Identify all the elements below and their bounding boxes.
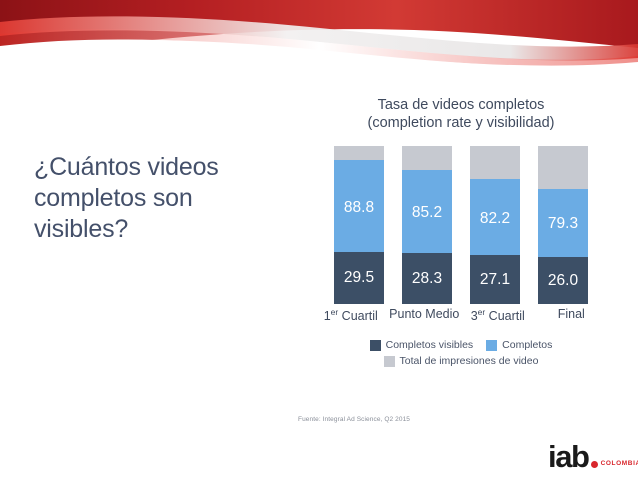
legend-swatch-icon	[486, 340, 497, 351]
legend-swatch-icon	[384, 356, 395, 367]
bar-value-completos: 88.8	[342, 199, 376, 216]
legend-row: Completos visibles Completos	[296, 339, 626, 351]
stacked-bar[interactable]: 79.3 26.0	[538, 146, 588, 304]
legend-item-total-impresiones[interactable]: Total de impresiones de video	[384, 355, 539, 367]
bar-value-completos: 82.2	[478, 210, 512, 227]
legend-item-completos[interactable]: Completos	[486, 339, 552, 351]
bar-value-visibles: 26.0	[546, 272, 580, 289]
bar-segment-visibles: 26.0	[538, 257, 588, 304]
category-number: 1	[324, 309, 331, 323]
legend-item-completos-visibles[interactable]: Completos visibles	[370, 339, 474, 351]
legend-label: Completos	[502, 339, 552, 351]
logo-country-label: COLOMBIA	[601, 460, 638, 467]
bar-segment-completos: 85.2	[402, 170, 452, 254]
bar-segment-completos: 88.8	[334, 160, 384, 252]
chart-plot-area: 88.8 29.5 85.2 28.3 82.2	[296, 146, 626, 304]
legend-label: Completos visibles	[386, 339, 474, 351]
source-note: Fuente: Integral Ad Science, Q2 2015	[298, 416, 410, 423]
category-label: Punto Medio	[388, 307, 462, 323]
category-label: Final	[535, 307, 609, 323]
category-text: Final	[558, 307, 585, 321]
bar-segment-visibles: 27.1	[470, 255, 520, 304]
iab-colombia-logo: iab COLOMBIA	[548, 441, 638, 472]
bar-segment-completos: 82.2	[470, 179, 520, 255]
header-wave-banner	[0, 0, 638, 72]
chart-legend: Completos visibles Completos Total de im…	[296, 339, 626, 367]
logo-wordmark: iab	[548, 441, 589, 472]
bar-value-visibles: 28.3	[410, 270, 444, 287]
legend-row: Total de impresiones de video	[296, 355, 626, 367]
category-label: 3er Cuartil	[461, 307, 535, 323]
bar-group: 88.8 29.5 85.2 28.3 82.2	[296, 146, 626, 304]
stacked-bar[interactable]: 82.2 27.1	[470, 146, 520, 304]
bar-segment-total	[402, 146, 452, 170]
bar-segment-visibles: 29.5	[334, 252, 384, 304]
legend-swatch-icon	[370, 340, 381, 351]
bar-value-completos: 85.2	[410, 204, 444, 221]
category-text: Cuartil	[485, 309, 525, 323]
chart-title: Tasa de videos completos (completion rat…	[296, 96, 626, 132]
bar-value-visibles: 27.1	[478, 271, 512, 288]
category-label: 1er Cuartil	[314, 307, 388, 323]
chart-container: Tasa de videos completos (completion rat…	[296, 96, 626, 371]
category-text: Cuartil	[338, 309, 378, 323]
bar-segment-visibles: 28.3	[402, 253, 452, 304]
stacked-bar[interactable]: 85.2 28.3	[402, 146, 452, 304]
category-text: Punto Medio	[389, 307, 459, 321]
legend-label: Total de impresiones de video	[400, 355, 539, 367]
bar-value-completos: 79.3	[546, 215, 580, 232]
category-axis: 1er Cuartil Punto Medio 3er Cuartil Fina…	[296, 307, 626, 323]
page-title: ¿Cuántos videos completos son visibles?	[34, 152, 284, 245]
bar-segment-total	[538, 146, 588, 189]
bar-value-visibles: 29.5	[342, 269, 376, 286]
bar-segment-completos: 79.3	[538, 189, 588, 257]
logo-dot-icon	[591, 461, 598, 468]
bar-segment-total	[334, 146, 384, 160]
category-number: 3	[471, 309, 478, 323]
bar-segment-total	[470, 146, 520, 179]
stacked-bar[interactable]: 88.8 29.5	[334, 146, 384, 304]
